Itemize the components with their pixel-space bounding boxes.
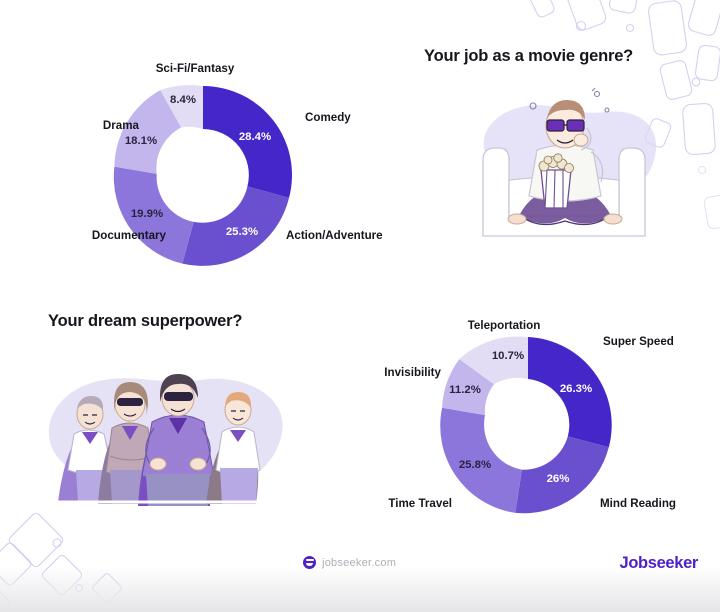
donut-value-teleportation: 10.7% (492, 350, 524, 362)
infographic-page: Your job as a movie genre? 28.4% 25.3% 1… (0, 0, 720, 612)
donut-label-super-speed: Super Speed (603, 335, 674, 348)
donut-chart-superpower-svg: 26.3% 26% 25.8% 11.2% 10.7% Super Speed … (360, 318, 710, 533)
donut-chart-superpower: 26.3% 26% 25.8% 11.2% 10.7% Super Speed … (360, 318, 710, 533)
donut-label-mind-reading: Mind Reading (600, 497, 676, 510)
donut-label-time-travel: Time Travel (388, 497, 452, 510)
footer: jobseeker.com Jobseeker (0, 556, 720, 582)
donut-label-drama: Drama (103, 119, 140, 132)
chart-title-superpower: Your dream superpower? (48, 312, 242, 331)
donut-label-documentary: Documentary (92, 229, 167, 242)
chart-title-movie-genre: Your job as a movie genre? (424, 47, 633, 66)
illustration-superhero-team (34, 352, 302, 524)
donut-label-invisibility: Invisibility (384, 366, 441, 379)
illustration-movie-watcher-svg (455, 82, 675, 254)
footer-site-text: jobseeker.com (322, 557, 396, 569)
head (546, 100, 588, 148)
donut-value-mind-reading: 26% (547, 473, 570, 485)
donut-value-sci-fi-fantasy: 8.4% (170, 94, 196, 106)
donut-value-documentary: 19.9% (131, 208, 163, 220)
donut-label-teleportation: Teleportation (468, 319, 541, 332)
decor-right-edge-shapes (698, 166, 720, 229)
donut-value-drama: 18.1% (125, 135, 157, 147)
donut-value-super-speed: 26.3% (560, 383, 592, 395)
illustration-superhero-team-svg (34, 352, 302, 524)
donut-slices-superpower (440, 336, 611, 513)
donut-value-comedy: 28.4% (239, 131, 271, 143)
donut-label-action-adventure: Action/Adventure (286, 229, 383, 242)
donut-chart-movie-genre-svg: 28.4% 25.3% 19.9% 18.1% 8.4% Comedy Acti… (70, 60, 410, 290)
donut-value-time-travel: 25.8% (459, 459, 491, 471)
donut-label-sci-fi-fantasy: Sci-Fi/Fantasy (156, 62, 235, 75)
smiley-icon (303, 556, 316, 569)
donut-value-action-adventure: 25.3% (226, 226, 258, 238)
donut-label-comedy: Comedy (305, 111, 351, 124)
footer-site-link[interactable]: jobseeker.com (303, 556, 396, 569)
illustration-movie-watcher (455, 82, 675, 254)
donut-value-invisibility: 11.2% (449, 384, 481, 396)
jobseeker-logo: Jobseeker (620, 554, 699, 573)
donut-chart-movie-genre: 28.4% 25.3% 19.9% 18.1% 8.4% Comedy Acti… (70, 60, 410, 290)
